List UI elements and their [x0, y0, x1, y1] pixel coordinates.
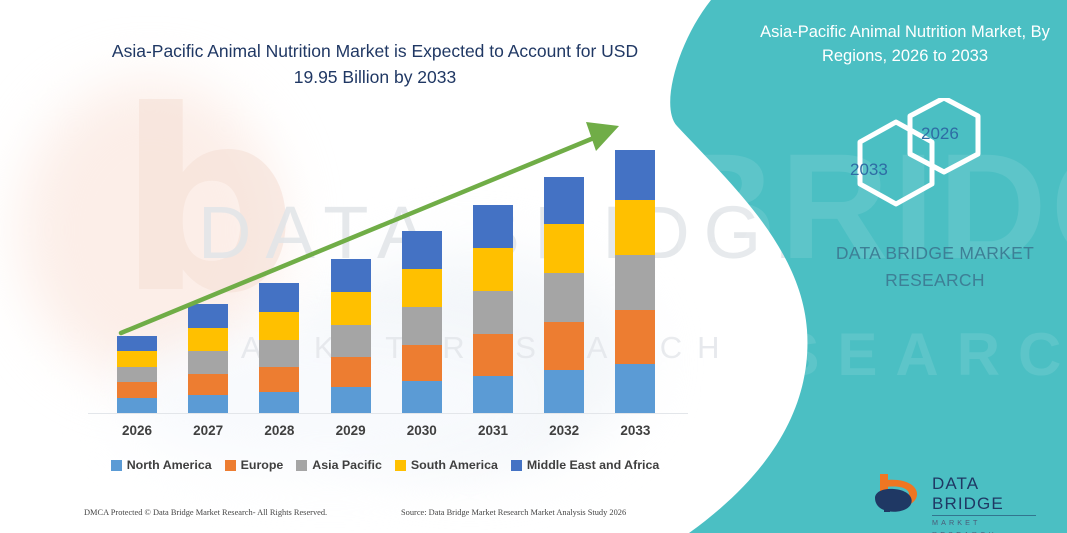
databridge-mark-icon	[872, 472, 930, 518]
logo-title: DATA BRIDGE	[932, 474, 1047, 514]
bar-2032	[544, 177, 584, 414]
bar-segment	[402, 269, 442, 307]
bar-segment	[544, 273, 584, 322]
bar-segment	[188, 328, 228, 351]
bar-2029	[331, 259, 371, 414]
bar-segment	[473, 334, 513, 376]
hexagon-label-2033: 2033	[850, 160, 888, 180]
bar-segment	[544, 322, 584, 370]
bar-segment	[117, 336, 157, 351]
bar-segment	[544, 370, 584, 414]
x-axis-label-2030: 2030	[392, 423, 452, 438]
bar-segment	[259, 392, 299, 414]
legend-label: Europe	[241, 458, 284, 472]
legend-swatch-icon	[296, 460, 307, 471]
panel-title: Asia-Pacific Animal Nutrition Market, By…	[755, 20, 1055, 68]
x-axis-label-2031: 2031	[463, 423, 523, 438]
bar-segment	[331, 259, 371, 292]
bar-segment	[117, 382, 157, 398]
bar-segment	[331, 325, 371, 357]
bar-2026	[117, 336, 157, 414]
x-axis-label-2032: 2032	[534, 423, 594, 438]
footer: DMCA Protected © Data Bridge Market Rese…	[0, 508, 700, 522]
x-axis-labels: 20262027202820292030203120322033	[0, 423, 700, 445]
logo-divider	[932, 515, 1036, 516]
hexagon-label-2026: 2026	[921, 124, 959, 144]
hexagon-year-group: 2026 2033	[828, 98, 1003, 216]
bar-segment	[544, 177, 584, 224]
bar-segment	[188, 351, 228, 374]
legend-label: South America	[411, 458, 498, 472]
footer-copyright: DMCA Protected © Data Bridge Market Rese…	[84, 508, 327, 517]
bar-segment	[188, 395, 228, 414]
x-axis-label-2033: 2033	[605, 423, 665, 438]
bar-2030	[402, 231, 442, 414]
logo-subtitle: MARKET RESEARCH	[932, 517, 1047, 533]
bar-segment	[331, 387, 371, 414]
bar-segment	[473, 205, 513, 248]
bar-segment	[615, 310, 655, 364]
legend-item[interactable]: Asia Pacific	[296, 458, 382, 472]
footer-source: Source: Data Bridge Market Research Mark…	[401, 508, 626, 517]
bar-2031	[473, 205, 513, 414]
bar-segment	[188, 304, 228, 328]
bar-segment	[259, 340, 299, 367]
bar-segment	[188, 374, 228, 395]
legend-swatch-icon	[395, 460, 406, 471]
bar-segment	[259, 283, 299, 312]
x-axis-label-2029: 2029	[321, 423, 381, 438]
bar-segment	[117, 398, 157, 414]
bar-segment	[402, 231, 442, 269]
x-axis-line	[88, 413, 688, 414]
bar-segment	[473, 291, 513, 334]
bar-segment	[615, 255, 655, 310]
bar-segment	[331, 357, 371, 387]
legend-swatch-icon	[511, 460, 522, 471]
bar-segment	[615, 200, 655, 255]
bar-segment	[402, 345, 442, 381]
bar-2033	[615, 150, 655, 414]
legend-label: North America	[127, 458, 212, 472]
bar-segment	[402, 381, 442, 414]
bar-segment	[615, 364, 655, 414]
bar-2027	[188, 304, 228, 414]
bar-segment	[402, 307, 442, 345]
legend-item[interactable]: North America	[111, 458, 212, 472]
legend-item[interactable]: South America	[395, 458, 498, 472]
chart-legend: North AmericaEuropeAsia PacificSouth Ame…	[95, 456, 675, 474]
bar-segment	[331, 292, 371, 325]
bar-segment	[473, 376, 513, 414]
legend-swatch-icon	[111, 460, 122, 471]
bar-2028	[259, 283, 299, 414]
legend-label: Middle East and Africa	[527, 458, 659, 472]
logo-text-block: DATA BRIDGE MARKET RESEARCH	[932, 474, 1047, 533]
infographic-canvas: b DATA BRIDGE MARKET RESEARCH BRIDGE RES…	[0, 0, 1067, 533]
bar-segment	[544, 224, 584, 273]
x-axis-label-2027: 2027	[178, 423, 238, 438]
bar-segment	[259, 312, 299, 340]
legend-label: Asia Pacific	[312, 458, 382, 472]
bar-segment	[117, 351, 157, 367]
x-axis-label-2028: 2028	[249, 423, 309, 438]
legend-item[interactable]: Europe	[225, 458, 284, 472]
legend-item[interactable]: Middle East and Africa	[511, 458, 659, 472]
bar-segment	[117, 367, 157, 382]
x-axis-label-2026: 2026	[107, 423, 167, 438]
bar-segment	[615, 150, 655, 200]
bar-segment	[473, 248, 513, 291]
legend-swatch-icon	[225, 460, 236, 471]
bar-segment	[259, 367, 299, 392]
brand-logo: DATA BRIDGE MARKET RESEARCH	[872, 472, 1047, 518]
panel-brand-text: DATA BRIDGE MARKET RESEARCH	[790, 240, 1067, 294]
stacked-bar-chart	[0, 0, 700, 533]
